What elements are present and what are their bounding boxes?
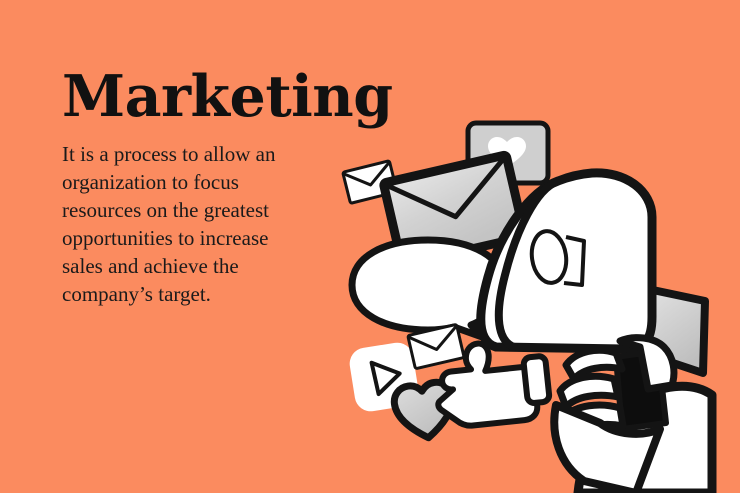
slide-canvas: Marketing It is a process to allow an or… <box>0 0 740 493</box>
marketing-megaphone-illustration <box>330 105 740 493</box>
page-body-text: It is a process to allow an organization… <box>62 140 310 308</box>
text-block: Marketing It is a process to allow an or… <box>62 66 330 308</box>
page-title: Marketing <box>62 66 330 128</box>
